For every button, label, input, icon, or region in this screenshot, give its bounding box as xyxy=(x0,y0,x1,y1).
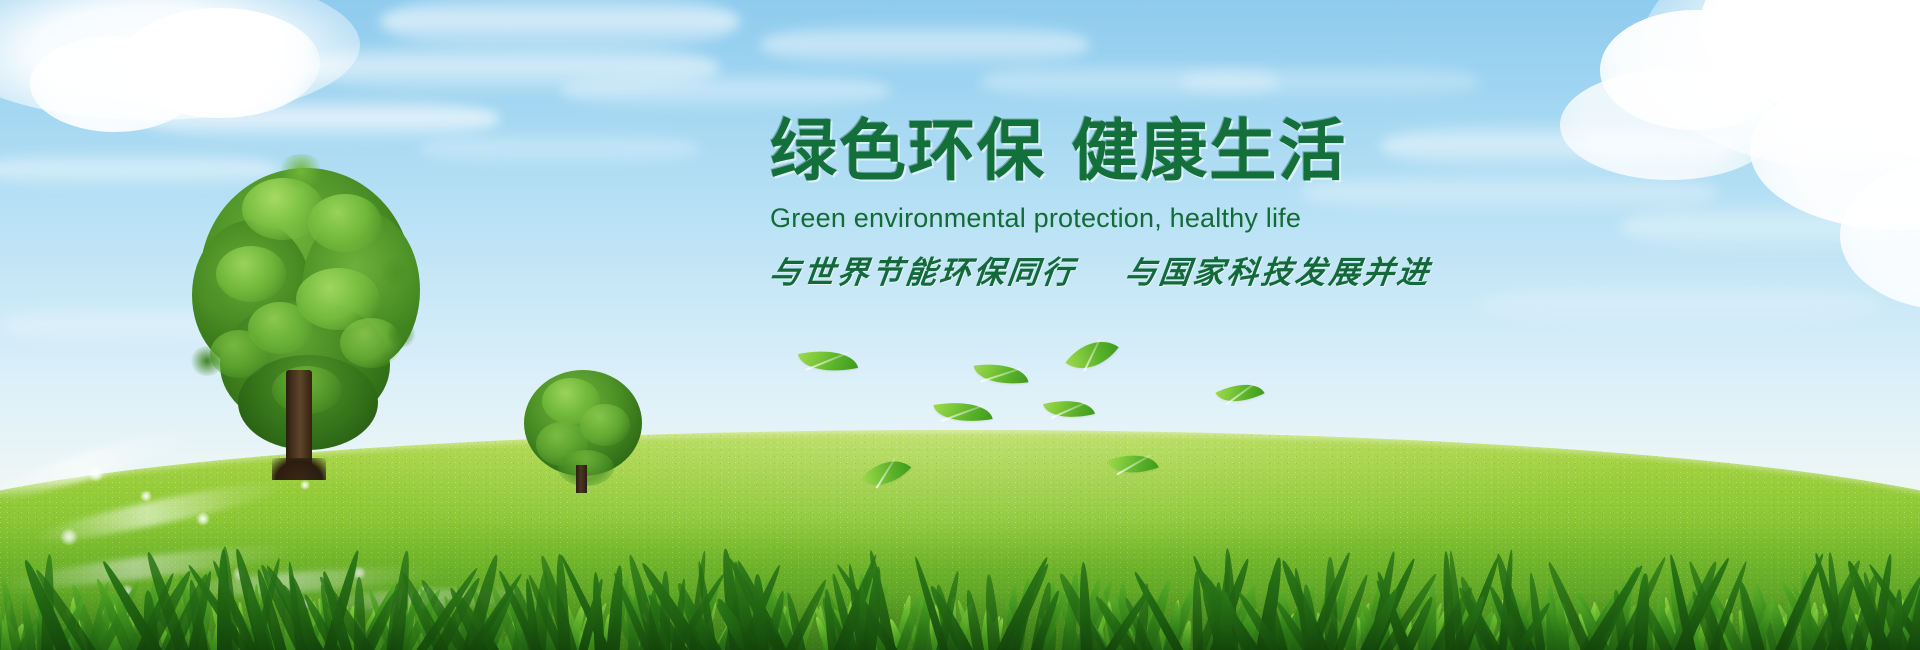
leaf-icon xyxy=(933,395,992,428)
leaf-icon xyxy=(974,358,1029,389)
tree-trunk xyxy=(286,370,312,480)
tagline-right: 与国家科技发展并进 xyxy=(1123,255,1433,291)
large-tree xyxy=(190,150,420,480)
tree-trunk xyxy=(576,465,587,493)
small-tree xyxy=(518,368,648,493)
cloud xyxy=(560,70,890,112)
leaf-icon xyxy=(1065,327,1118,383)
cloud xyxy=(420,130,700,168)
leaf-icon xyxy=(1215,373,1264,412)
leaf-icon xyxy=(1043,393,1095,426)
leaf-icon xyxy=(798,342,858,379)
banner-text-block: 绿色环保 健康生活 Green environmental protection… xyxy=(770,118,1470,292)
foreground-grass-band xyxy=(0,520,1920,650)
subtitle-english: Green environmental protection, healthy … xyxy=(770,203,1470,234)
tagline: 与世界节能环保同行 与国家科技发展并进 xyxy=(767,247,1473,292)
cloud xyxy=(1620,200,1920,254)
cloud xyxy=(140,96,500,142)
eco-banner: 绿色环保 健康生活 Green environmental protection… xyxy=(0,0,1920,650)
tagline-left: 与世界节能环保同行 xyxy=(767,255,1077,291)
cloud xyxy=(760,20,1090,70)
page-title: 绿色环保 健康生活 xyxy=(770,118,1470,185)
cloud xyxy=(1180,60,1480,104)
cloud xyxy=(1480,280,1880,330)
